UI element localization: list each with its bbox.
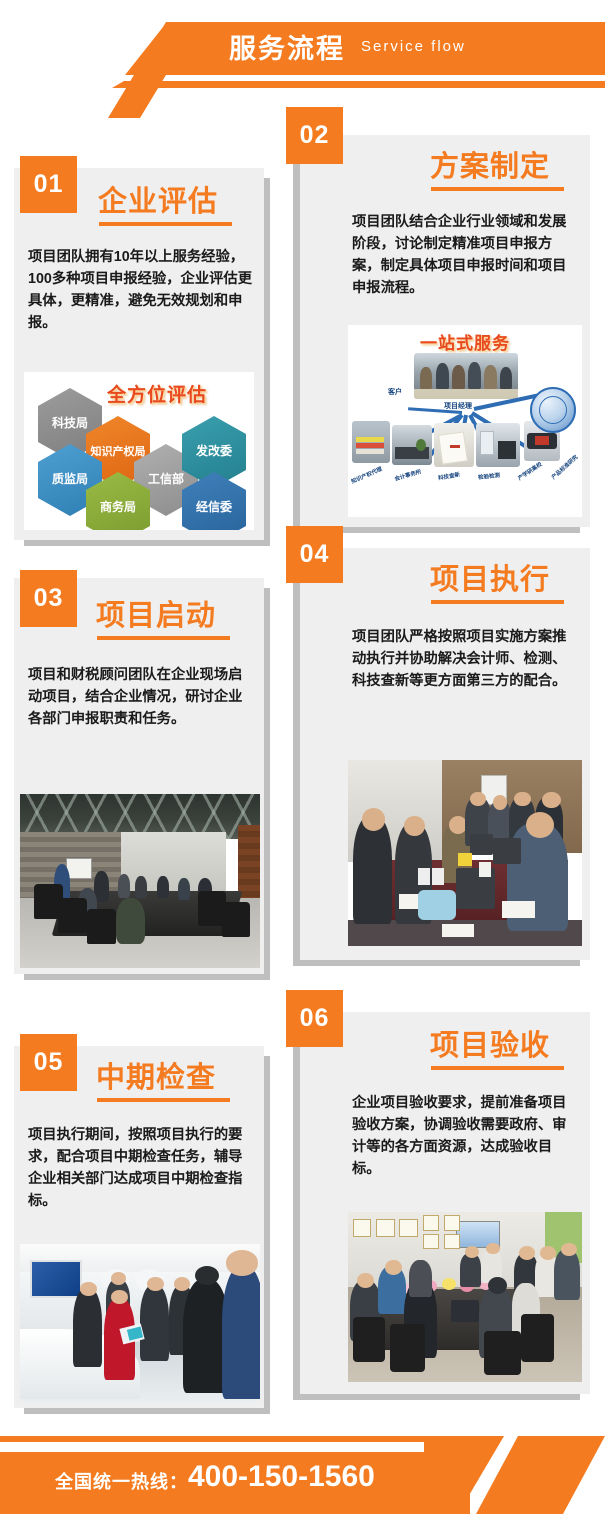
card-title-01: 企业评估 [98, 178, 218, 220]
process-card-03[interactable]: 03 项目启动 项目和财税顾问团队在企业现场启动项目，结合企业情况，研讨企业各部… [14, 578, 264, 974]
process-card-01[interactable]: 01 企业评估 项目团队拥有10年以上服务经验，100多种项目申报经验，企业评估… [14, 168, 264, 540]
oss-branch-label-5: 产学研高校 [516, 460, 543, 482]
hexagon-node-label: 发改委 [196, 445, 232, 459]
card-shadow [293, 960, 580, 966]
card-body-02: 项目团队结合企业行业领域和发展阶段，讨论制定精准项目申报方案，制定具体项目申报时… [352, 211, 578, 300]
oss-client-label: 客户 [388, 387, 402, 397]
card-shadow [293, 1022, 300, 1400]
step-number-badge-05: 05 [20, 1034, 77, 1091]
card-media-06 [348, 1212, 582, 1382]
page-subtitle: Service flow [361, 38, 466, 55]
working-meeting-photo [348, 760, 582, 946]
boardroom-meeting-photo [348, 1212, 582, 1382]
oss-center-label: 项目经理 [444, 401, 472, 411]
card-media-03 [20, 794, 260, 968]
card-body-05: 项目执行期间，按照项目执行的要求，配合项目中期检查任务，辅导企业相关部门达成项目… [28, 1124, 252, 1213]
card-title-rule-02 [431, 187, 564, 191]
card-title-rule-04 [431, 600, 564, 604]
hotline-label: 全国统一热线： [55, 1468, 188, 1494]
oss-branch-label-1: 知识产权代理 [350, 465, 383, 486]
page-footer: 全国统一热线： 400-150-1560 [0, 1420, 605, 1538]
one-stop-service-title: 一站式服务 [420, 329, 510, 354]
hexagon-node-label: 科技局 [52, 417, 88, 431]
oss-branch-label-3: 科技查新 [437, 470, 460, 482]
card-title-rule-06 [431, 1066, 564, 1070]
header-underline-rule [112, 81, 605, 88]
hexagon-node-label: 知识产权局 [91, 446, 146, 459]
card-shadow [264, 588, 270, 980]
hexagon-diagram-title: 全方位评估 [107, 380, 207, 407]
page-title: 服务流程 [229, 27, 345, 66]
card-title-02: 方案制定 [430, 143, 550, 185]
hexagon-node-label: 质监局 [52, 473, 88, 487]
process-card-06[interactable]: 06 项目验收 企业项目验收要求，提前准备项目验收方案，协调验收需要政府、审计等… [300, 1012, 590, 1394]
step-number-badge-03: 03 [20, 570, 77, 627]
card-title-04: 项目执行 [430, 556, 550, 598]
oss-branch-photo-3 [434, 423, 474, 467]
oss-branch-photo-4 [476, 423, 520, 467]
card-body-03: 项目和财税顾问团队在企业现场启动项目，结合企业情况，研讨企业各部门申报职责和任务… [28, 664, 252, 730]
hexagon-node-label: 经信委 [196, 501, 232, 515]
footer-top-rule [0, 1436, 460, 1442]
process-card-02[interactable]: 02 方案制定 项目团队结合企业行业领域和发展阶段，讨论制定精准项目申报方案，制… [300, 135, 590, 527]
card-shadow [24, 1408, 270, 1414]
card-title-03: 项目启动 [96, 592, 216, 634]
card-body-04: 项目团队严格按照项目实施方案推动执行并协助解决会计师、检测、科技查新等更方面第三… [352, 626, 578, 692]
card-media-01: 全方位评估 科技局 知识产权局 质监局 工信部 商务局 发改委 经信委 [24, 372, 254, 530]
card-shadow [264, 178, 270, 546]
card-title-rule-05 [97, 1098, 230, 1102]
oss-branch-photo-1 [352, 421, 390, 463]
hexagon-evaluation-diagram: 全方位评估 科技局 知识产权局 质监局 工信部 商务局 发改委 经信委 [24, 372, 254, 530]
card-shadow [293, 145, 300, 533]
hexagon-node-label: 商务局 [100, 501, 136, 515]
card-media-05 [20, 1244, 260, 1402]
card-media-02: 一站式服务 客户 项目经理 [348, 325, 582, 517]
card-title-06: 项目验收 [430, 1022, 550, 1064]
step-number-badge-06: 06 [286, 990, 343, 1047]
card-title-05: 中期检查 [96, 1054, 216, 1096]
hexagon-node-label: 工信部 [148, 473, 184, 487]
header-banner: 服务流程 Service flow [125, 22, 605, 75]
oss-branch-label-4: 检验检测 [478, 471, 501, 481]
card-title-rule-03 [97, 636, 230, 640]
oss-branch-label-2: 会计事务所 [393, 467, 422, 482]
oss-branch-photo-2 [392, 425, 432, 465]
oss-top-photo [414, 353, 518, 399]
process-card-05[interactable]: 05 中期检查 项目执行期间，按照项目执行的要求，配合项目中期检查任务，辅导企业… [14, 1046, 264, 1408]
step-number-badge-04: 04 [286, 526, 343, 583]
conference-room-photo [20, 794, 260, 968]
step-number-badge-02: 02 [286, 107, 343, 164]
oss-iso-seal-icon [530, 387, 576, 433]
card-media-04 [348, 760, 582, 946]
card-title-rule-01 [99, 222, 232, 226]
card-shadow [24, 540, 270, 546]
one-stop-service-diagram: 一站式服务 客户 项目经理 [348, 325, 582, 517]
page-header: 服务流程 Service flow [0, 0, 605, 118]
hotline-phone[interactable]: 400-150-1560 [188, 1460, 375, 1494]
card-shadow [24, 974, 270, 980]
card-shadow [264, 1056, 270, 1414]
step-number-badge-01: 01 [20, 156, 77, 213]
card-body-06: 企业项目验收要求，提前准备项目验收方案，协调验收需要政府、审计等的各方面资源，达… [352, 1092, 578, 1181]
card-body-01: 项目团队拥有10年以上服务经验，100多种项目申报经验，企业评估更具体，更精准，… [28, 246, 252, 335]
process-card-04[interactable]: 04 项目执行 项目团队严格按照项目实施方案推动执行并协助解决会计师、检测、科技… [300, 548, 590, 960]
showroom-visit-photo [20, 1244, 260, 1402]
card-shadow [293, 558, 300, 966]
card-shadow [293, 1394, 580, 1400]
